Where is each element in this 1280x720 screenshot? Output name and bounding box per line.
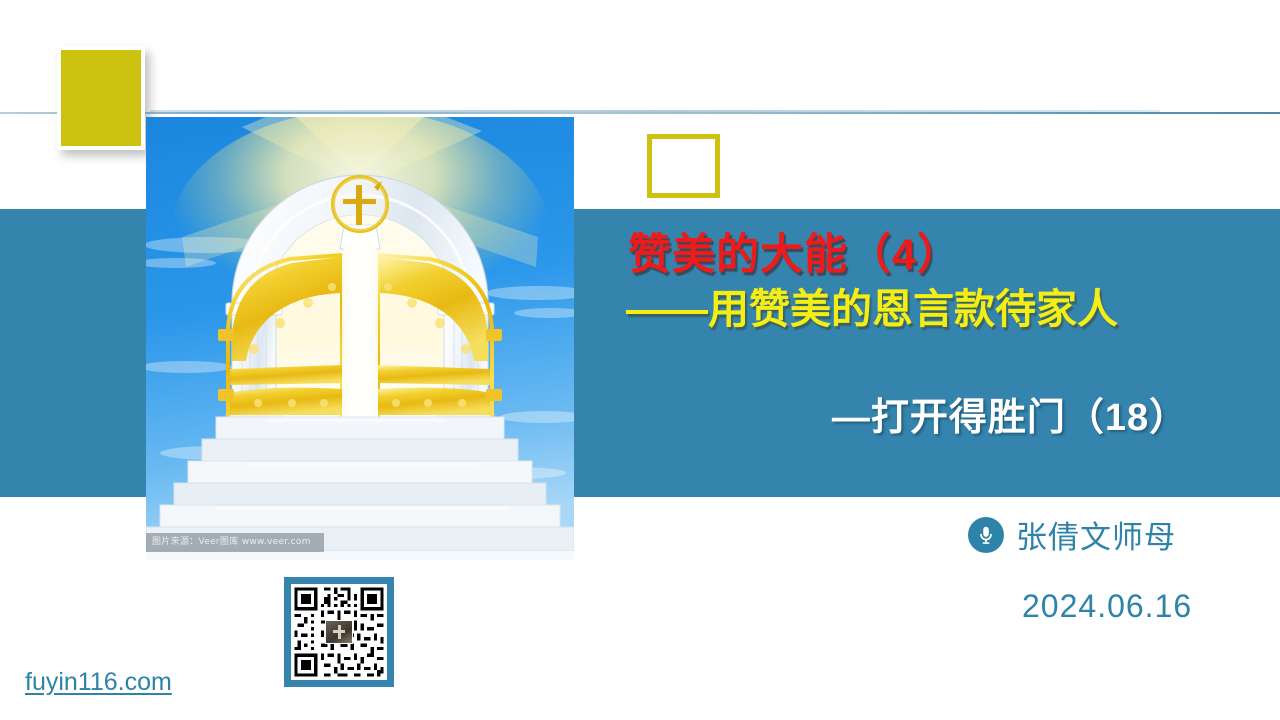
qr-center-logo xyxy=(325,620,353,644)
speaker-name: 张倩文师母 xyxy=(1016,512,1176,557)
top-rule xyxy=(0,112,1280,114)
image-source-watermark: 图片来源：Veer图库 www.veer.com xyxy=(146,533,324,552)
speaker-credit: 张倩文师母 xyxy=(968,512,1176,557)
yellow-outline-square xyxy=(647,134,720,198)
presentation-date: 2024.06.16 xyxy=(1022,588,1192,625)
microphone-icon xyxy=(968,517,1004,553)
yellow-filled-square xyxy=(57,46,145,150)
heavenly-gate-illustration: 图片来源：Veer图库 www.veer.com xyxy=(146,117,574,560)
footer-website-link[interactable]: fuyin116.com xyxy=(25,668,172,697)
title-block: 赞美的大能（4） ——用赞美的恩言款待家人 xyxy=(600,228,1260,336)
qr-code[interactable] xyxy=(284,577,394,687)
slide-canvas: 赞美的大能（4） ——用赞美的恩言款待家人 —打开得胜门（18） xyxy=(0,0,1280,720)
title-series: —打开得胜门（18） xyxy=(780,386,1240,441)
title-subtitle: ——用赞美的恩言款待家人 xyxy=(600,282,1260,336)
title-main: 赞美的大能（4） xyxy=(600,228,1260,282)
